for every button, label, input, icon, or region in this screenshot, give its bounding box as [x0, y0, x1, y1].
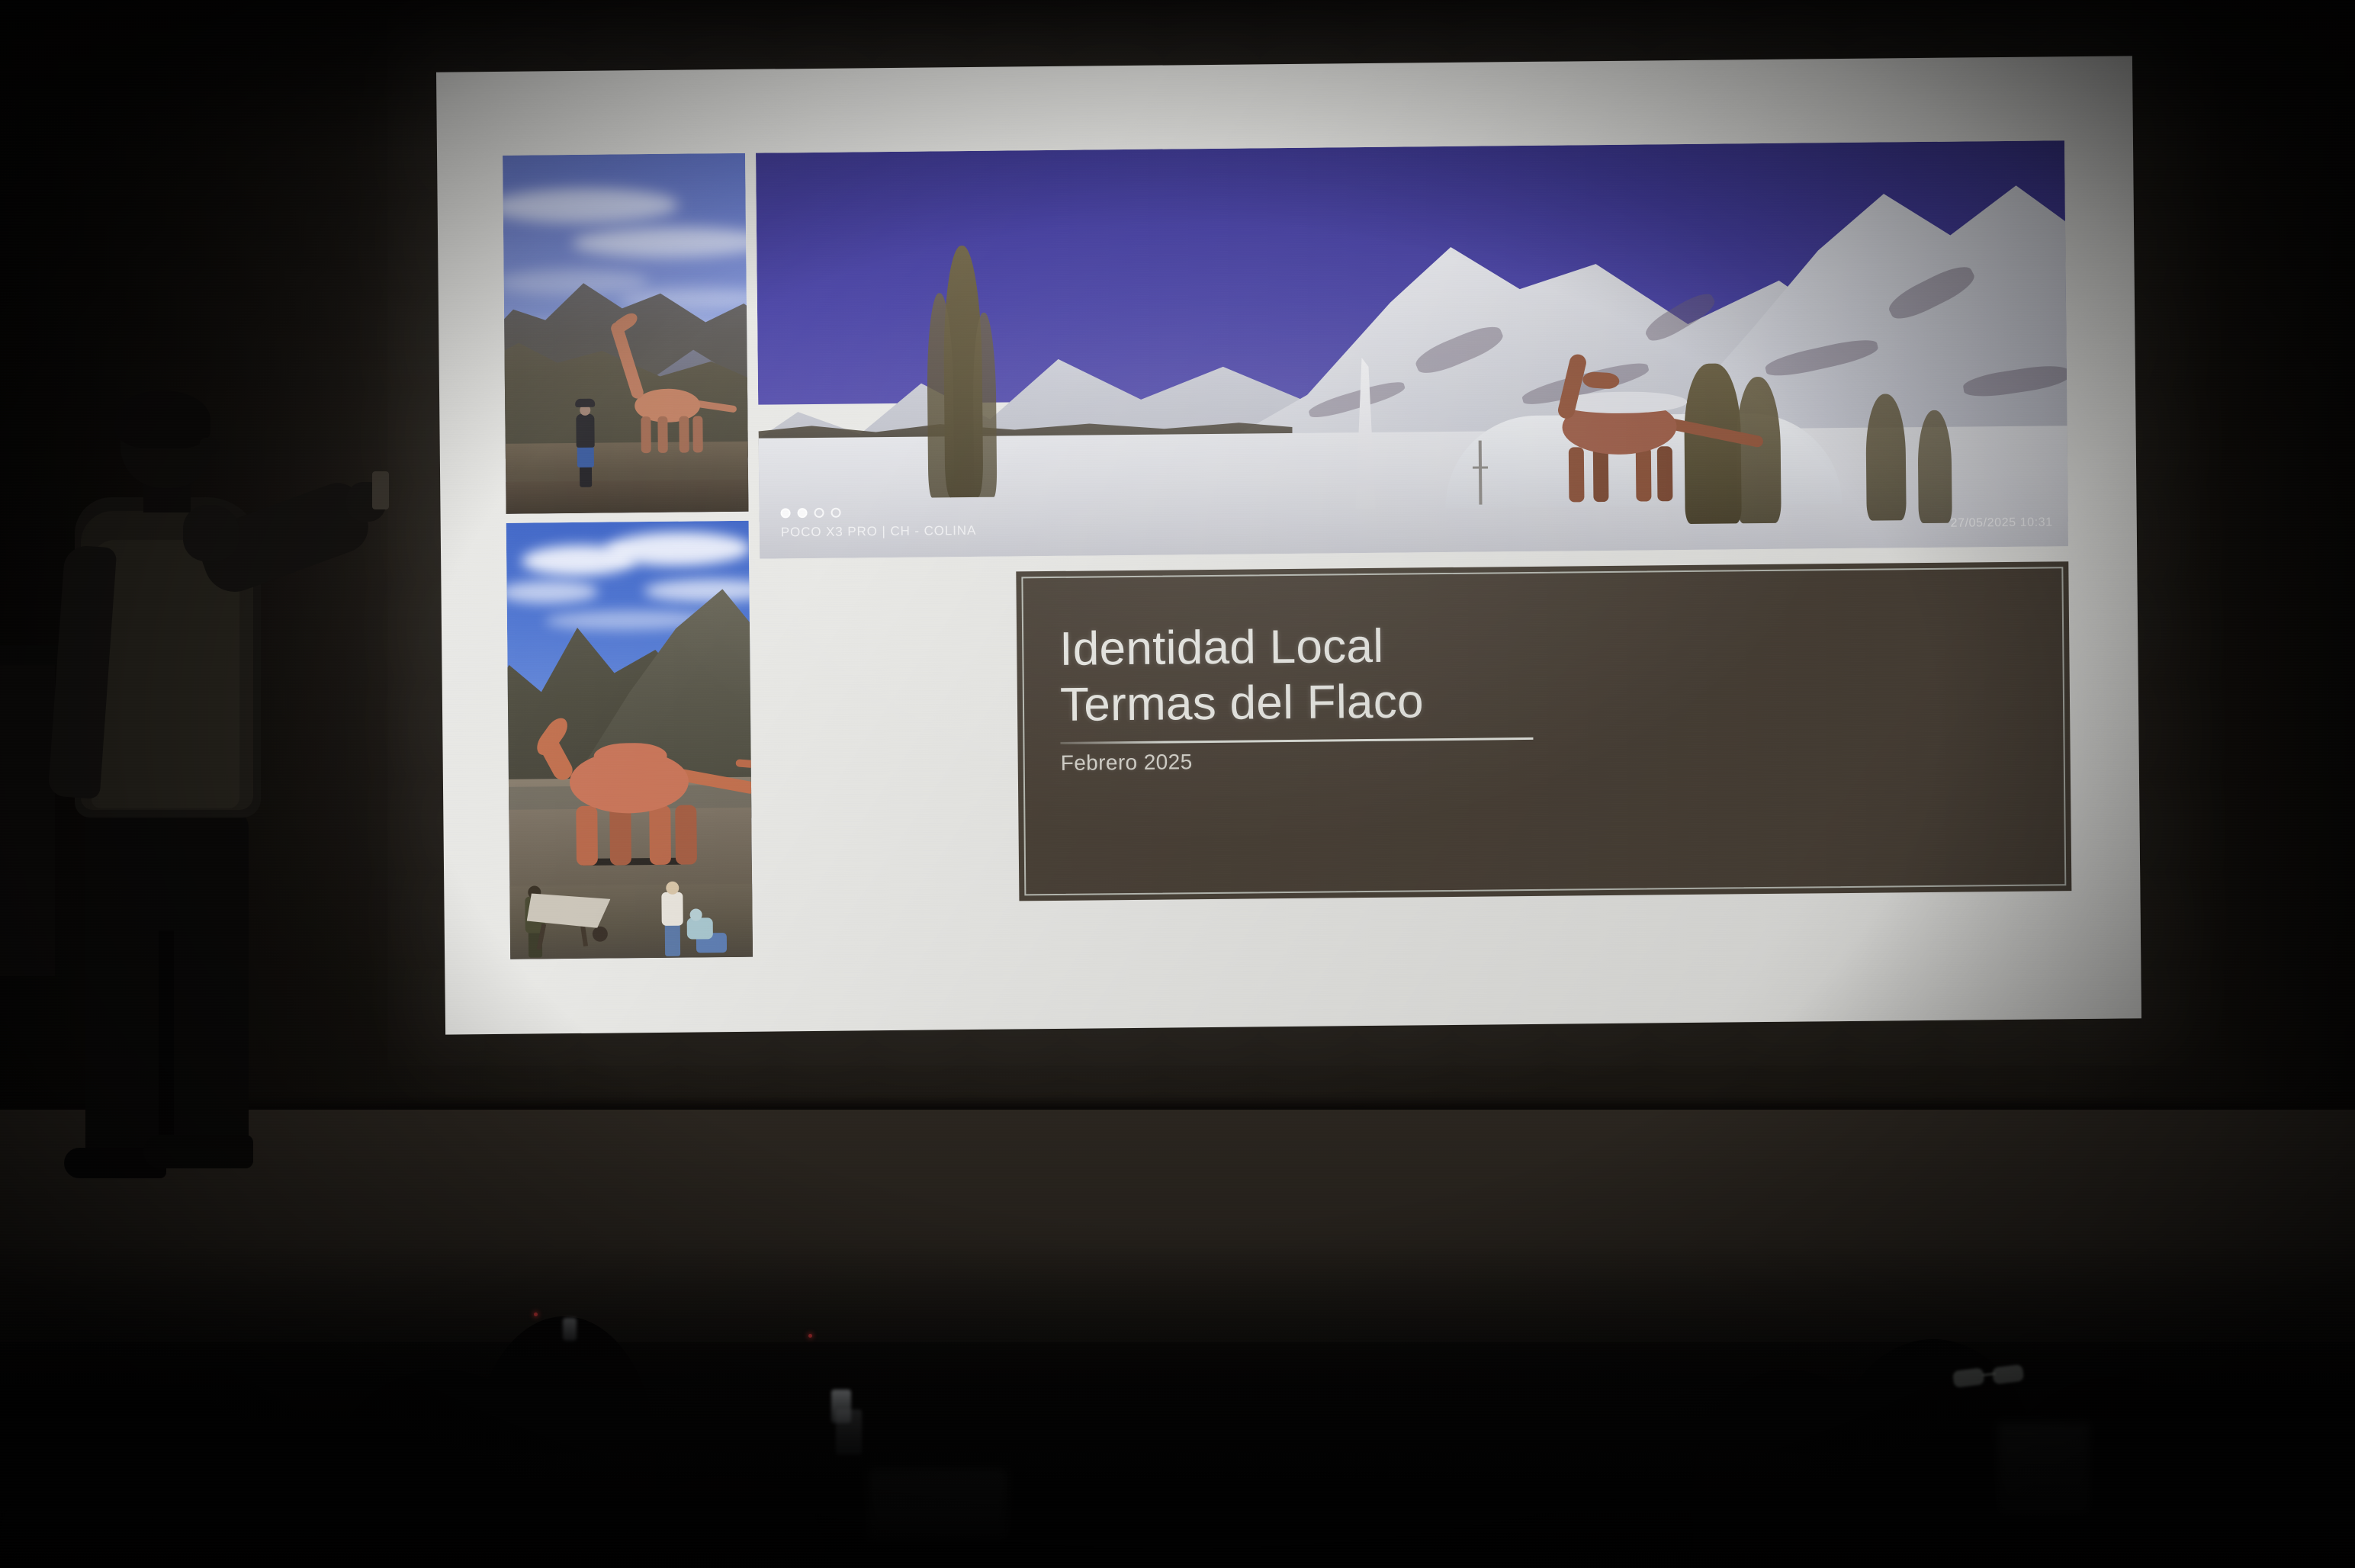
auditorium-room: POCO X3 PRO | CH - COLINA 27/05/2025 10:… [0, 0, 2355, 1568]
poplar-tree [1865, 394, 1907, 520]
presenter-profile-nose [200, 438, 220, 455]
dinosaur-leg [1569, 447, 1585, 502]
dinosaur-leg [679, 416, 689, 453]
dinosaur-leg [1657, 446, 1673, 501]
presenter-left-hand [183, 505, 239, 561]
dinosaur-leg [641, 416, 651, 453]
dinosaur-sculpture-snow [1528, 325, 1773, 521]
camera-watermark: POCO X3 PRO | CH - COLINA [781, 506, 977, 540]
worker-legs [665, 923, 680, 956]
person-shorts [577, 446, 594, 468]
dinosaur-leg [1636, 446, 1652, 501]
photo-bottom-left [506, 521, 753, 959]
dinosaur-leg [649, 805, 671, 865]
worker-torso [661, 892, 683, 926]
worker-head [666, 882, 679, 895]
slide-title-block: Identidad Local Termas del Flaco Febrero… [1016, 561, 2071, 901]
title-divider-rule [1060, 737, 1533, 744]
dinosaur-leg [576, 806, 598, 866]
worker [659, 882, 686, 955]
dinosaur-neck [609, 321, 645, 400]
dinosaur-neck [535, 731, 576, 784]
presenter-silhouette [47, 397, 368, 1251]
dinosaur-leg [692, 416, 702, 452]
dinosaur-leg [657, 416, 667, 453]
watermark-dots-icon [781, 506, 977, 518]
person-standing [572, 399, 599, 489]
person-legs [580, 466, 592, 487]
photo-timestamp: 27/05/2025 10:31 [1951, 516, 2053, 530]
presenter-leg-gap [159, 930, 174, 1159]
clicker-remote-icon [372, 471, 389, 509]
presentation-slide: POCO X3 PRO | CH - COLINA 27/05/2025 10:… [436, 56, 2141, 1034]
dinosaur-head [532, 714, 572, 760]
worker-head [690, 908, 702, 921]
dinosaur-head [610, 310, 640, 336]
dinosaur-sculpture [612, 304, 728, 458]
audience-darkness-gradient [0, 1248, 2355, 1568]
audience-silhouettes [0, 1141, 2355, 1568]
marker-post [1479, 441, 1483, 505]
watermark-device-label: POCO X3 PRO | CH - COLINA [781, 523, 977, 540]
photo-top-left [503, 153, 748, 514]
dinosaur-head [1582, 371, 1620, 390]
dinosaur-leg [1593, 447, 1609, 502]
slide-title-line2: Termas del Flaco [1060, 668, 2035, 733]
dinosaur-leg [609, 805, 631, 865]
projection-screen: POCO X3 PRO | CH - COLINA 27/05/2025 10:… [436, 56, 2141, 1034]
worker-kneeling [687, 907, 729, 955]
dinosaur-leg [675, 805, 697, 864]
worker-torso [687, 917, 713, 939]
marker-post-crossbar [1473, 466, 1488, 468]
wheelbarrow [526, 889, 620, 949]
wheelbarrow-leg [537, 924, 547, 950]
wheelbarrow-tub [526, 893, 610, 929]
person-torso [576, 414, 594, 448]
dinosaur-sculpture-under-construction [535, 683, 741, 871]
dirt-foreground [506, 480, 748, 514]
presenter-hair [114, 390, 210, 448]
poplar-tree [1917, 410, 1952, 523]
slide-title-line1: Identidad Local [1059, 612, 2035, 677]
person-hat [575, 399, 595, 407]
wheelbarrow-wheel [593, 927, 608, 942]
photo-main-winter: POCO X3 PRO | CH - COLINA 27/05/2025 10:… [756, 140, 2068, 558]
dinosaur-back [593, 743, 667, 770]
title-text-group: Identidad Local Termas del Flaco Febrero… [1059, 612, 2035, 776]
